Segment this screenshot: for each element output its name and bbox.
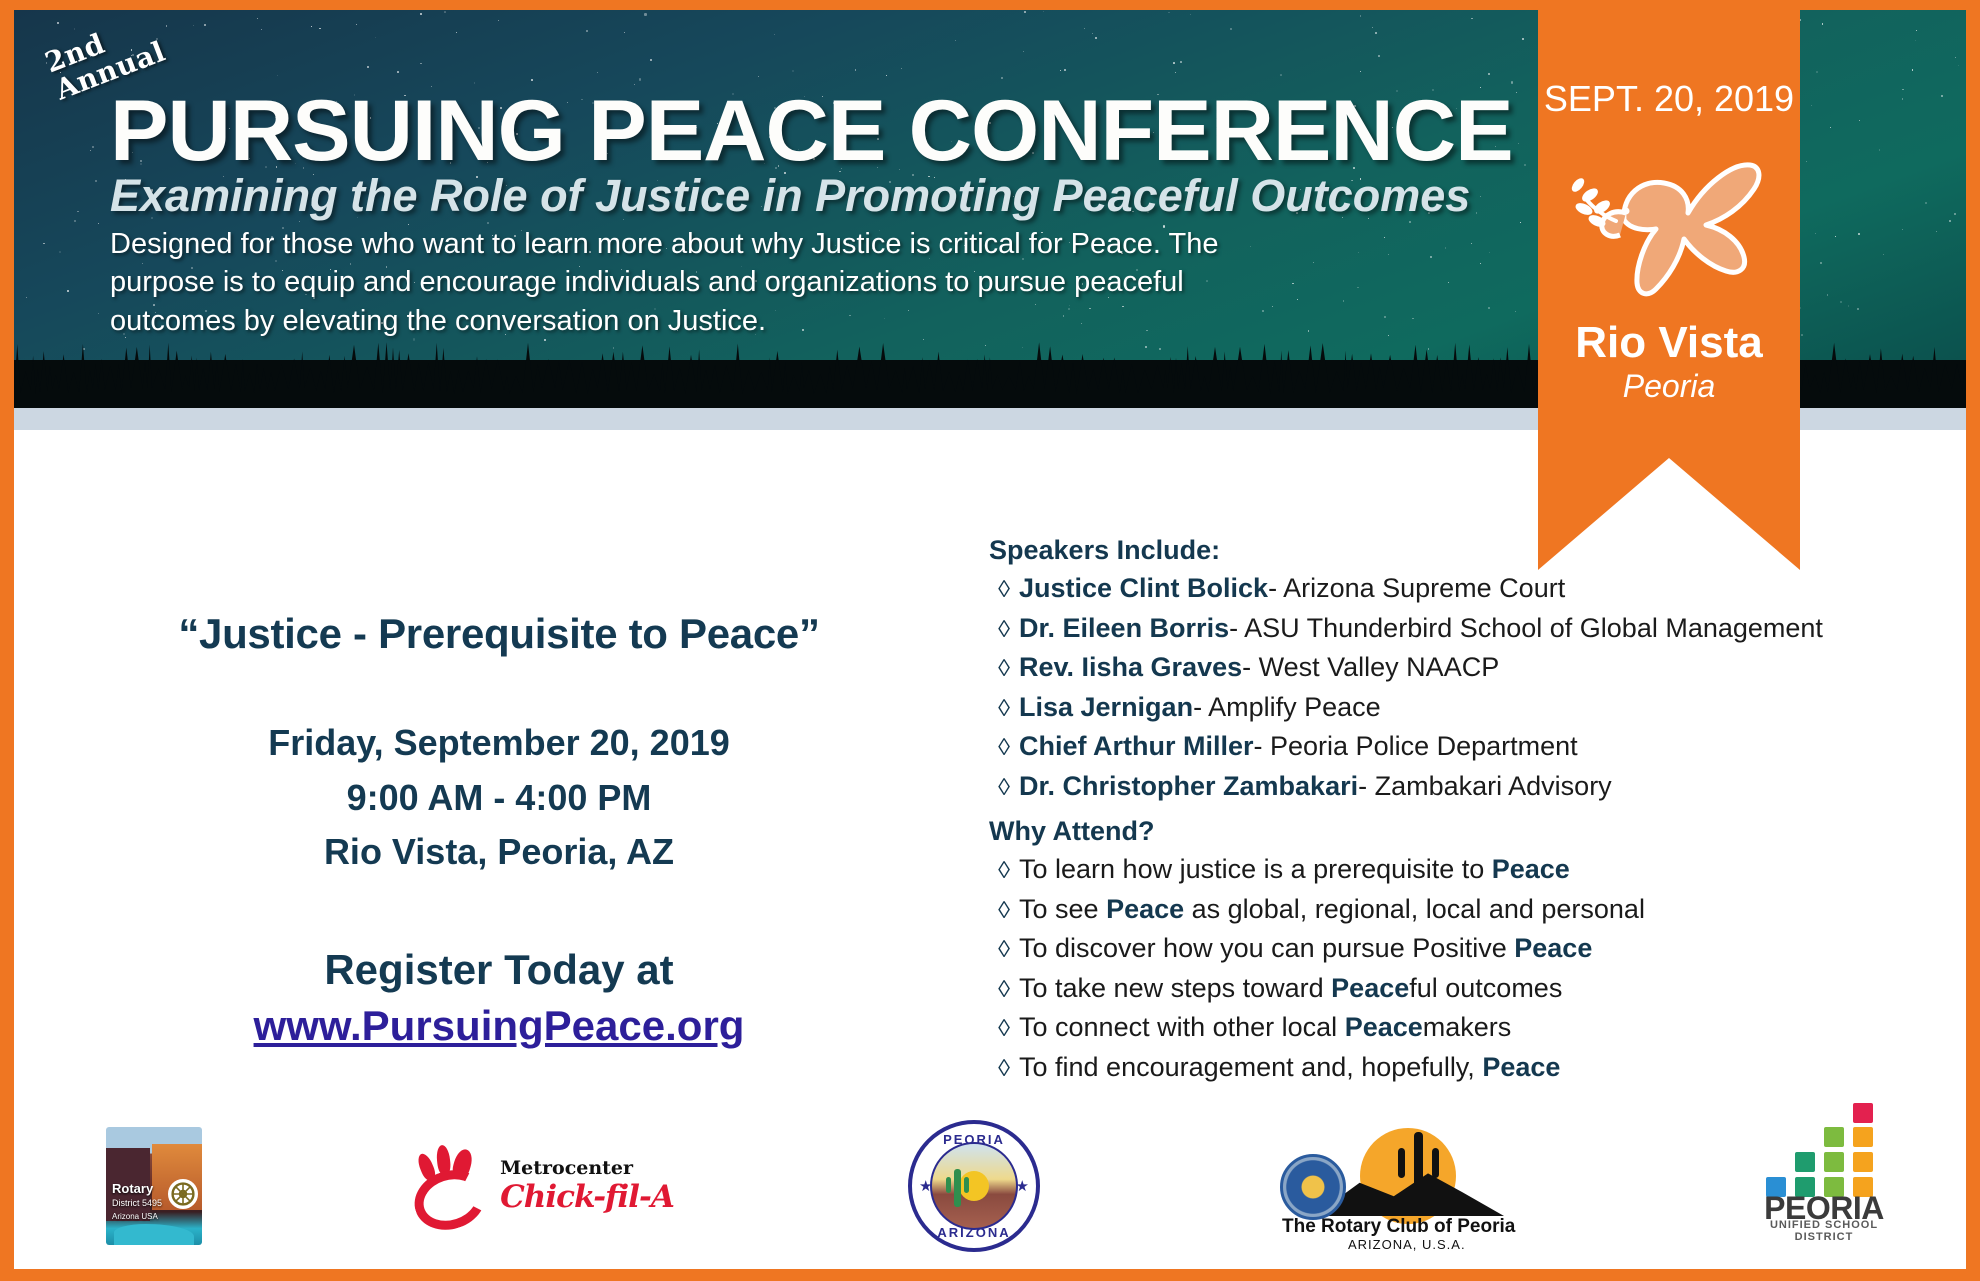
sponsor-strip: Rotary District 5495 Arizona USA bbox=[14, 1111, 1966, 1261]
arizona-canyon-icon: Rotary District 5495 Arizona USA bbox=[106, 1127, 202, 1245]
sponsor-name: Rotary bbox=[112, 1181, 153, 1196]
diamond-bullet-icon: ◊ bbox=[989, 695, 1019, 724]
diamond-bullet-icon: ◊ bbox=[989, 1055, 1019, 1084]
register-label: Register Today at bbox=[74, 946, 924, 994]
why-attend-text: To learn how justice is a prerequisite t… bbox=[1019, 853, 1570, 885]
block-orange-3 bbox=[1853, 1127, 1873, 1147]
seal-scene bbox=[930, 1142, 1018, 1230]
event-location: Rio Vista, Peoria, AZ bbox=[74, 825, 924, 880]
chick-fil-a-logo: Metrocenter Chick-fil-A bbox=[414, 1143, 674, 1229]
sponsor-line2: UNIFIED SCHOOL DISTRICT bbox=[1744, 1219, 1904, 1243]
sponsor-line2: District 5495 bbox=[112, 1198, 162, 1208]
speaker-item: ◊Rev. Iisha Graves - West Valley NAACP bbox=[989, 651, 1949, 684]
sponsor-line3: Arizona USA bbox=[112, 1212, 158, 1221]
river-shape bbox=[114, 1224, 195, 1245]
cactus-icon bbox=[954, 1169, 961, 1207]
block-orange-2 bbox=[1853, 1152, 1873, 1172]
why-attend-text: To take new steps toward Peaceful outcom… bbox=[1019, 972, 1562, 1004]
diamond-bullet-icon: ◊ bbox=[989, 616, 1019, 645]
city-of-peoria-seal-icon: PEORIA ARIZONA ★ ★ bbox=[908, 1120, 1040, 1252]
speaker-item: ◊Dr. Christopher Zambakari - Zambakari A… bbox=[989, 770, 1949, 803]
speaker-item: ◊Dr. Eileen Borris - ASU Thunderbird Sch… bbox=[989, 612, 1949, 645]
why-attend-text: To find encouragement and, hopefully, Pe… bbox=[1019, 1051, 1560, 1083]
speaker-org: - Arizona Supreme Court bbox=[1268, 572, 1565, 604]
diamond-bullet-icon: ◊ bbox=[989, 976, 1019, 1005]
sponsor-logo-peoria-arizona: PEORIA ARIZONA ★ ★ bbox=[854, 1111, 1094, 1261]
sponsor-logo-peoria-unified-school-district: PEORIA UNIFIED SCHOOL DISTRICT bbox=[1714, 1111, 1934, 1261]
speaker-name: Dr. Christopher Zambakari bbox=[1019, 770, 1358, 802]
speaker-org: - Amplify Peace bbox=[1193, 691, 1381, 723]
sponsor-logo-rotary-club-of-peoria: The Rotary Club of Peoria ARIZONA, U.S.A… bbox=[1244, 1111, 1544, 1261]
speaker-item: ◊Chief Arthur Miller - Peoria Police Dep… bbox=[989, 730, 1949, 763]
why-attend-item: ◊To take new steps toward Peaceful outco… bbox=[989, 972, 1949, 1005]
rotary-wheel-icon bbox=[168, 1179, 198, 1209]
dove-with-olive-branch-icon bbox=[1564, 125, 1774, 310]
speaker-item: ◊Lisa Jernigan - Amplify Peace bbox=[989, 691, 1949, 724]
diamond-bullet-icon: ◊ bbox=[989, 1015, 1019, 1044]
sponsor-line2: ARIZONA, U.S.A. bbox=[1348, 1237, 1466, 1252]
chick-fil-a-text: Metrocenter Chick-fil-A bbox=[500, 1157, 674, 1215]
speaker-org: - Zambakari Advisory bbox=[1358, 770, 1612, 802]
block-teal-2 bbox=[1795, 1152, 1815, 1172]
why-attend-list: ◊To learn how justice is a prerequisite … bbox=[989, 853, 1949, 1083]
theme-quote: “Justice - Prerequisite to Peace” bbox=[74, 610, 924, 658]
chicken-comb-icon bbox=[414, 1143, 492, 1229]
diamond-bullet-icon: ◊ bbox=[989, 655, 1019, 684]
speaker-name: Lisa Jernigan bbox=[1019, 691, 1193, 723]
speaker-name: Dr. Eileen Borris bbox=[1019, 612, 1229, 644]
register-link[interactable]: www.PursuingPeace.org bbox=[254, 1002, 745, 1050]
diamond-bullet-icon: ◊ bbox=[989, 734, 1019, 763]
why-attend-item: ◊To connect with other local Peacemakers bbox=[989, 1011, 1949, 1044]
event-details-column: “Justice - Prerequisite to Peace” Friday… bbox=[74, 610, 924, 1050]
block-green-2 bbox=[1824, 1152, 1844, 1172]
sponsor-logo-metrocenter-chick-fil-a: Metrocenter Chick-fil-A bbox=[394, 1111, 694, 1261]
why-attend-text: To discover how you can pursue Positive … bbox=[1019, 932, 1592, 964]
block-red-flag bbox=[1853, 1103, 1873, 1123]
sponsor-logo-rotary-district-5495: Rotary District 5495 Arizona USA bbox=[54, 1111, 254, 1261]
speaker-org: - Peoria Police Department bbox=[1254, 730, 1578, 762]
program-column: Speakers Include: ◊Justice Clint Bolick … bbox=[989, 535, 1949, 1091]
speaker-org: - West Valley NAACP bbox=[1242, 651, 1499, 683]
speaker-name: Chief Arthur Miller bbox=[1019, 730, 1254, 762]
speaker-name: Justice Clint Bolick bbox=[1019, 572, 1268, 604]
rotary-wheel-icon bbox=[1280, 1154, 1346, 1220]
why-attend-item: ◊To learn how justice is a prerequisite … bbox=[989, 853, 1949, 886]
diamond-bullet-icon: ◊ bbox=[989, 857, 1019, 886]
venue-name: Rio Vista bbox=[1538, 318, 1800, 368]
why-attend-text: To connect with other local Peacemakers bbox=[1019, 1011, 1511, 1043]
diamond-bullet-icon: ◊ bbox=[989, 897, 1019, 926]
speakers-list: ◊Justice Clint Bolick - Arizona Supreme … bbox=[989, 572, 1949, 802]
sponsor-name: Metrocenter bbox=[500, 1157, 633, 1179]
why-attend-heading: Why Attend? bbox=[989, 816, 1949, 847]
speaker-name: Rev. Iisha Graves bbox=[1019, 651, 1242, 683]
diamond-bullet-icon: ◊ bbox=[989, 936, 1019, 965]
why-attend-item: ◊To find encouragement and, hopefully, P… bbox=[989, 1051, 1949, 1084]
sponsor-line2: Chick-fil-A bbox=[500, 1179, 674, 1215]
why-attend-text: To see Peace as global, regional, local … bbox=[1019, 893, 1645, 925]
why-attend-item: ◊To discover how you can pursue Positive… bbox=[989, 932, 1949, 965]
event-time: 9:00 AM - 4:00 PM bbox=[74, 771, 924, 826]
page-subtitle: Examining the Role of Justice in Promoti… bbox=[110, 170, 1470, 222]
rotary-club-peoria-logo: The Rotary Club of Peoria ARIZONA, U.S.A… bbox=[1274, 1122, 1514, 1250]
cfa-c-letter bbox=[407, 1161, 493, 1238]
sponsor-name: The Rotary Club of Peoria bbox=[1282, 1216, 1515, 1238]
page-title: PURSUING PEACE CONFERENCE bbox=[110, 82, 1513, 181]
event-date-badge: SEPT. 20, 2019 bbox=[1538, 78, 1800, 120]
diamond-bullet-icon: ◊ bbox=[989, 774, 1019, 803]
event-date: Friday, September 20, 2019 bbox=[74, 716, 924, 771]
speaker-org: - ASU Thunderbird School of Global Manag… bbox=[1229, 612, 1823, 644]
speaker-item: ◊Justice Clint Bolick - Arizona Supreme … bbox=[989, 572, 1949, 605]
block-chart-icon bbox=[1766, 1125, 1876, 1197]
pusd-logo: PEORIA UNIFIED SCHOOL DISTRICT bbox=[1744, 1121, 1904, 1251]
speakers-heading: Speakers Include: bbox=[989, 535, 1949, 566]
diamond-bullet-icon: ◊ bbox=[989, 576, 1019, 605]
conference-flyer: 2nd Annual PURSUING PEACE CONFERENCE Exa… bbox=[0, 0, 1980, 1281]
event-details: Friday, September 20, 2019 9:00 AM - 4:0… bbox=[74, 716, 924, 880]
hero-description: Designed for those who want to learn mor… bbox=[110, 225, 1220, 340]
why-attend-item: ◊To see Peace as global, regional, local… bbox=[989, 893, 1949, 926]
block-green-3 bbox=[1824, 1127, 1844, 1147]
venue-city: Peoria bbox=[1538, 368, 1800, 405]
